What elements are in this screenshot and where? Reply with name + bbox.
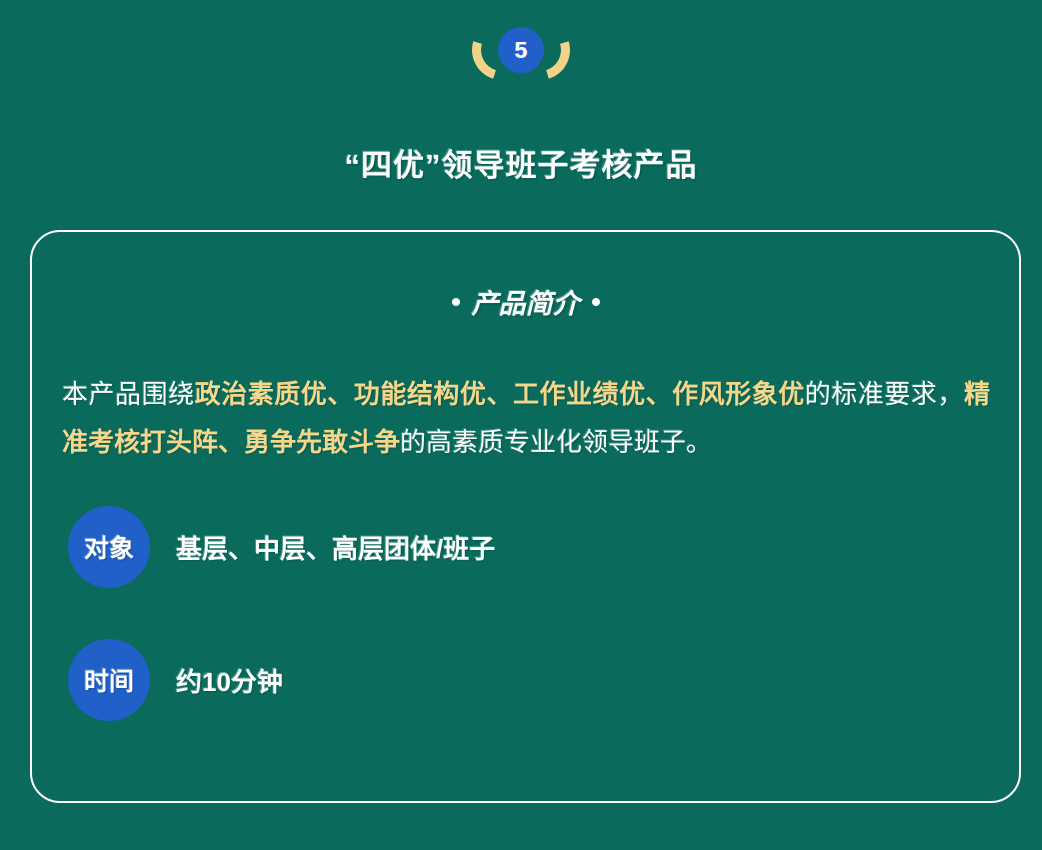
medallion-number: 5 bbox=[515, 39, 528, 62]
meta-value-duration: 约10分钟 bbox=[176, 662, 283, 699]
intro-segment-1: 政治素质优、功能结构优、工作业绩优、作风形象优 bbox=[195, 379, 805, 409]
page-title: “四优”领导班子考核产品 bbox=[0, 140, 1042, 185]
meta-badge-duration: 时间 bbox=[68, 639, 150, 721]
section-heading-label: 产品简介 bbox=[472, 282, 580, 321]
section-heading: 产品简介 bbox=[32, 282, 1019, 321]
number-medallion: 5 bbox=[0, 14, 1042, 86]
number-circle: 5 bbox=[498, 27, 544, 73]
intro-paragraph: 本产品围绕政治素质优、功能结构优、工作业绩优、作风形象优的标准要求，精准考核打头… bbox=[62, 370, 990, 466]
intro-segment-0: 本产品围绕 bbox=[62, 379, 195, 409]
dot-icon-left bbox=[452, 298, 460, 306]
medallion-inner: 5 bbox=[466, 14, 576, 86]
content-card: 产品简介 本产品围绕政治素质优、功能结构优、工作业绩优、作风形象优的标准要求，精… bbox=[30, 230, 1021, 803]
dot-icon-right bbox=[592, 298, 600, 306]
intro-segment-2: 的标准要求， bbox=[805, 379, 964, 409]
intro-segment-4: 的高素质专业化领导班子。 bbox=[400, 427, 712, 457]
meta-value-target: 基层、中层、高层团体/班子 bbox=[176, 529, 495, 566]
meta-row-duration: 时间 约10分钟 bbox=[68, 639, 283, 721]
meta-badge-target: 对象 bbox=[68, 506, 150, 588]
meta-row-target: 对象 基层、中层、高层团体/班子 bbox=[68, 506, 495, 588]
